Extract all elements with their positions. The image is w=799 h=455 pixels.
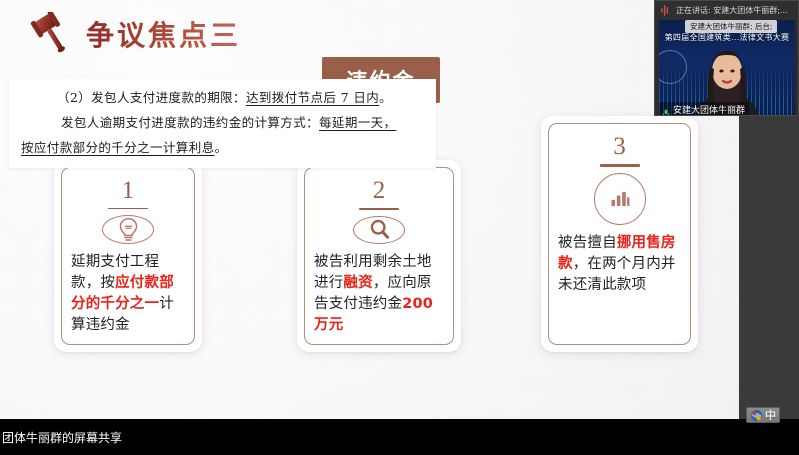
doc-fill: 达到拨付节点后 7 日内 [246, 90, 379, 105]
doc-end: 。 [379, 90, 392, 105]
microphone-icon [662, 105, 670, 114]
speaking-signal-icon [660, 5, 671, 16]
video-thumbnail-tile[interactable]: 正在讲话: 安建大团体牛丽群;... 第四届全国建筑类...法律文书大赛 安建大… [654, 0, 799, 116]
card-text-highlight: 融资 [343, 275, 372, 291]
lightbulb-icon [102, 215, 154, 244]
document-line-1: （2）发包人支付进度款的期限：达到拨付节点后 7 日内。 [57, 87, 392, 106]
ime-mode-label[interactable]: 中 [765, 410, 776, 421]
doc-label: （2）发包人支付进度款的期限： [57, 90, 246, 105]
card-divider [108, 208, 148, 209]
video-feed: 第四届全国建筑类...法律文书大赛 安建大团体牛丽群; 后台; [659, 20, 795, 116]
card-text-part: ，在两个月内并未还清此款项 [558, 256, 676, 293]
contract-document-overlay: （2）发包人支付进度款的期限：达到拨付节点后 7 日内。 发包人逾期支付进度款的… [9, 79, 436, 168]
participant-nameplate: 安建大团体牛丽群 [659, 102, 749, 116]
card-number: 2 [373, 178, 386, 203]
screen-share-status-bar: 团体牛丽群的屏幕共享 [0, 419, 799, 455]
bar-chart-icon [594, 173, 646, 225]
doc-fill: 按应付款部分的千分之一计算利息 [21, 140, 215, 155]
magnifier-icon [353, 216, 405, 244]
card-text: 被告利用剩余土地进行融资，应向原告支付违约金200万元 [314, 252, 444, 336]
card-inner: 3 被告擅自挪用售房款，在两个月内并未还清此款项 [548, 123, 691, 345]
card-divider [600, 164, 640, 167]
active-speaker-label: 正在讲话: 安建大团体牛丽群;... [676, 5, 788, 16]
doc-label: 发包人逾期支付进度款的违约金的计算方式： [61, 115, 319, 130]
card-text: 延期支付工程款，按应付款部分的千分之一计算违约金 [71, 252, 185, 336]
card-number: 3 [613, 134, 626, 159]
screen-share-status-text: 团体牛丽群的屏幕共享 [0, 429, 122, 446]
document-line-2: 发包人逾期支付进度款的违约金的计算方式：每延期一天， [61, 112, 396, 131]
evidence-card-2[interactable]: 2 被告利用剩余土地进行融资，应向原告支付违约金200万元 [297, 160, 461, 352]
card-inner: 1 延期支付工程款，按应付款部分的千分之一计算违约金 [61, 167, 195, 345]
video-toast-label: 安建大团体牛丽群; 后台; [685, 20, 777, 33]
right-gutter [739, 116, 799, 419]
document-line-3: 按应付款部分的千分之一计算利息。 [21, 137, 227, 156]
evidence-card-3[interactable]: 3 被告擅自挪用售房款，在两个月内并未还清此款项 [541, 116, 698, 352]
card-text-part: 被告擅自 [558, 235, 617, 251]
doc-end: 。 [215, 140, 228, 155]
card-inner: 2 被告利用剩余土地进行融资，应向原告支付违约金200万元 [304, 167, 454, 345]
screen-share-window: 争议焦点三 违约金 1 [0, 0, 799, 455]
ime-indicator[interactable]: 中 [746, 407, 780, 423]
card-number: 1 [122, 178, 135, 203]
video-tile-header: 正在讲话: 安建大团体牛丽群;... [655, 1, 798, 20]
evidence-card-1[interactable]: 1 延期支付工程款，按应付款部分的千分之一计算违约金 [54, 160, 202, 352]
doc-fill: 每延期一天， [319, 115, 396, 130]
card-divider [359, 208, 399, 210]
participant-name: 安建大团体牛丽群 [673, 103, 745, 116]
card-text: 被告擅自挪用售房款，在两个月内并未还清此款项 [558, 233, 681, 296]
globe-icon[interactable] [750, 409, 763, 422]
